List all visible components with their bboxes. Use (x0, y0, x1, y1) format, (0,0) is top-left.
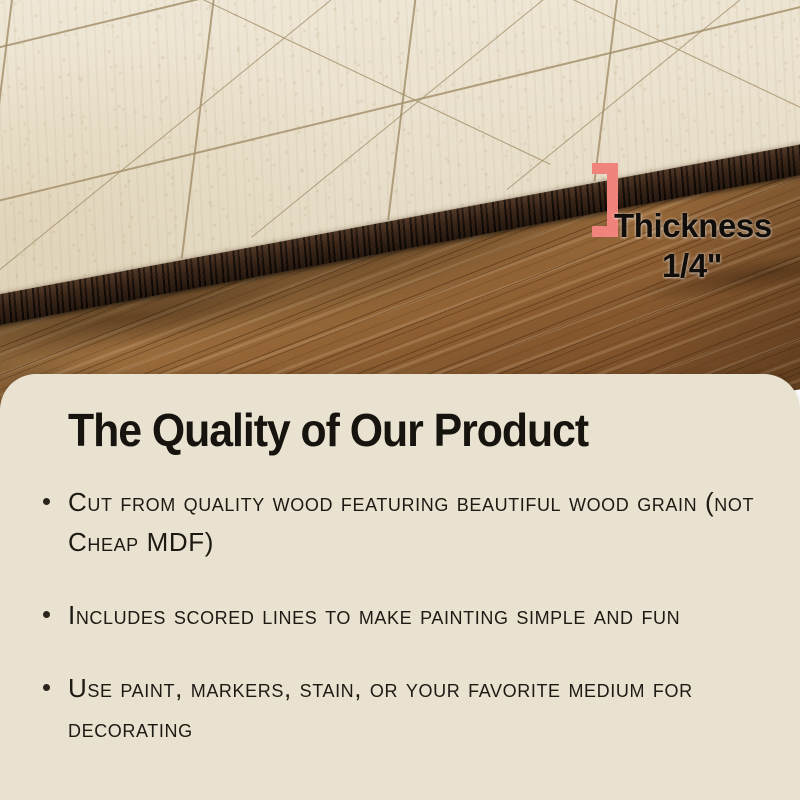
page-title: The Quality of Our Product (68, 403, 588, 457)
score-line (387, 0, 456, 220)
score-line (0, 0, 800, 110)
bullet-dot-icon (43, 498, 50, 505)
bullet-dot-icon (43, 684, 50, 691)
bullet-dot-icon (43, 611, 50, 618)
score-line (307, 0, 800, 66)
score-line (0, 0, 551, 165)
list-item-label: Cut from quality wood featuring beautifu… (68, 482, 760, 562)
list-item-label: Use paint, markers, stain, or your favor… (68, 668, 760, 748)
list-item: Use paint, markers, stain, or your favor… (40, 668, 760, 748)
quality-bullet-list: Cut from quality wood featuring beautifu… (40, 482, 760, 781)
score-line (0, 0, 44, 297)
product-feature-graphic: Thickness 1/4" The Quality of Our Produc… (0, 0, 800, 800)
score-line (181, 0, 251, 259)
thickness-callout: Thickness 1/4" (614, 206, 800, 286)
list-item: Includes scored lines to make painting s… (40, 595, 760, 635)
list-item-label: Includes scored lines to make painting s… (68, 595, 760, 635)
list-item: Cut from quality wood featuring beautifu… (40, 482, 760, 562)
thickness-label: Thickness (614, 206, 800, 246)
thickness-value: 1/4" (614, 246, 800, 286)
score-line (41, 0, 800, 116)
score-line (594, 0, 663, 181)
